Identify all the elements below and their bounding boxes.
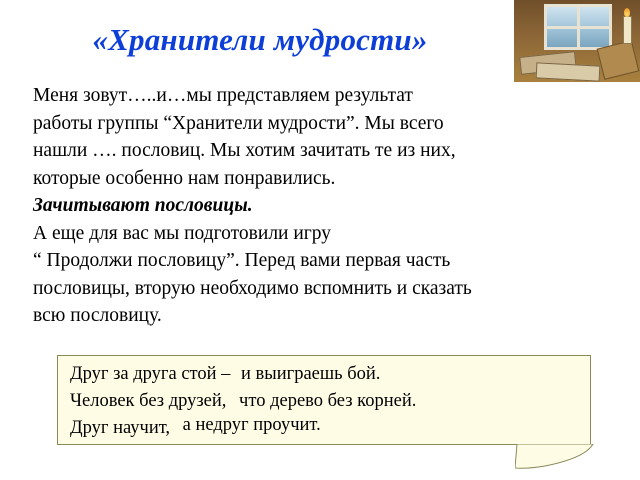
body-line: Меня зовут…..и…мы представляем результат	[33, 82, 611, 110]
window-icon	[544, 4, 612, 50]
body-text: Меня зовут…..и…мы представляем результат…	[33, 82, 611, 330]
body-line: всю пословицу.	[33, 302, 611, 330]
proverb-second-part: что дерево без корней.	[239, 388, 416, 415]
flame-icon	[624, 8, 630, 17]
candle-icon	[623, 16, 632, 44]
body-line: пословицы, вторую необходимо вспомнить и…	[33, 275, 611, 303]
proverb-second-part: а недруг проучит.	[183, 412, 321, 439]
page-title: «Хранители мудрости»	[0, 22, 520, 58]
body-line: нашли …. пословиц. Мы хотим зачитать те …	[33, 137, 611, 165]
proverb-first-part: Человек без друзей,	[70, 388, 226, 415]
proverb-first-part: Друг научит,	[70, 415, 170, 442]
proverb-first-part: Друг за друга стой –	[70, 361, 230, 388]
list-item: Друг за друга стой – и выиграешь бой.	[70, 361, 590, 388]
body-line: А еще для вас мы подготовили игру	[33, 220, 611, 248]
body-line: работы группы “Хранители мудрости”. Мы в…	[33, 110, 611, 138]
proverb-list: Друг за друга стой – и выиграешь бой. Че…	[70, 361, 590, 442]
callout-tail	[515, 444, 597, 470]
list-item: Человек без друзей, что дерево без корне…	[70, 388, 590, 415]
slide: «Хранители мудрости» Меня зовут…..и…мы п…	[0, 0, 640, 480]
book-icon	[536, 62, 601, 81]
list-item: Друг научит, а недруг проучит.	[70, 415, 590, 442]
old-books-window-illustration	[514, 0, 640, 82]
body-line: которые особенно нам понравились.	[33, 165, 611, 193]
emphasis-line: Зачитывают пословицы.	[33, 192, 611, 220]
body-line: “ Продолжи пословицу”. Перед вами первая…	[33, 247, 611, 275]
proverb-second-part: и выиграешь бой.	[241, 361, 380, 388]
